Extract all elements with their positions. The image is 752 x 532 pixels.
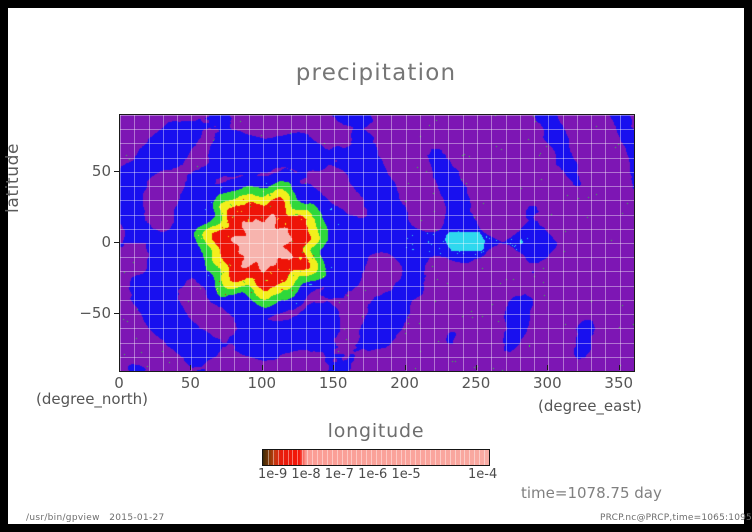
- x-tick-label: 150: [319, 374, 348, 392]
- colorbar-tick: [332, 450, 333, 465]
- x-tickmark: [476, 365, 477, 370]
- footer-source: PRCP.nc@PRCP,time=1065:1095: [600, 513, 752, 523]
- y-tickmark: [114, 171, 119, 172]
- colorbar-tick: [292, 450, 293, 465]
- colorbar-tick: [484, 450, 485, 465]
- colorbar-tick: [440, 450, 441, 465]
- y-tickmark: [114, 313, 119, 314]
- x-tick-label: 200: [390, 374, 419, 392]
- y-axis-label: latitude: [3, 143, 23, 213]
- x-tick-label: 100: [247, 374, 276, 392]
- x-tick-label: 350: [604, 374, 633, 392]
- contour-plot-area[interactable]: [119, 114, 635, 372]
- colorbar-tick: [479, 450, 480, 465]
- colorbar-tick: [396, 450, 397, 465]
- y-tick-label: −50: [57, 304, 111, 322]
- colorbar-tick: [450, 450, 451, 465]
- x-tickmark: [190, 365, 191, 370]
- x-tick-label: 250: [462, 374, 491, 392]
- colorbar-tick: [317, 450, 318, 465]
- x-tickmark: [333, 365, 334, 370]
- colorbar-tick: [464, 450, 465, 465]
- colorbar-tick: [420, 450, 421, 465]
- x-axis-label: longitude: [8, 420, 744, 442]
- colorbar-tick: [278, 450, 279, 465]
- colorbar-tick: [366, 450, 367, 465]
- colorbar-tick: [386, 450, 387, 465]
- colorbar-min-labels: 1e-9 1e-8 1e-7 1e-6 1e-5: [258, 467, 421, 482]
- colorbar-tick: [445, 450, 446, 465]
- colorbar-tick: [273, 450, 274, 465]
- colorbar-tick: [351, 450, 352, 465]
- y-tickmark: [114, 242, 119, 243]
- colorbar-tick: [297, 450, 298, 465]
- colorbar-tick: [283, 450, 284, 465]
- colorbar-tick: [455, 450, 456, 465]
- colorbar-tick: [425, 450, 426, 465]
- x-tickmark: [119, 365, 120, 370]
- colorbar-tick: [356, 450, 357, 465]
- colorbar-tick: [381, 450, 382, 465]
- time-annotation: time=1078.75 day: [521, 484, 662, 502]
- colorbar-tick: [342, 450, 343, 465]
- colorbar-max-label: 1e-4: [468, 467, 497, 482]
- footer-command: /usr/bin/gpview 2015-01-27: [26, 513, 165, 523]
- colorbar-tick: [268, 450, 269, 465]
- colorbar-tick: [307, 450, 308, 465]
- colorbar-tick: [430, 450, 431, 465]
- x-tick-label: 300: [533, 374, 562, 392]
- gridline-vertical: [634, 115, 635, 371]
- y-tick-label: 50: [57, 162, 111, 180]
- colorbar-tick: [347, 450, 348, 465]
- y-tick-label: 0: [57, 233, 111, 251]
- x-tick-label: 50: [181, 374, 200, 392]
- colorbar-tick: [410, 450, 411, 465]
- x-axis-unit-left: (degree_north): [36, 390, 148, 408]
- colorbar-tick: [337, 450, 338, 465]
- colorbar-tick: [322, 450, 323, 465]
- x-tickmark: [619, 365, 620, 370]
- figure-canvas: precipitation 050100150200250300350500−5…: [8, 8, 744, 524]
- precipitation-field: [120, 115, 634, 371]
- colorbar-tick: [469, 450, 470, 465]
- colorbar-tick: [312, 450, 313, 465]
- x-tickmark: [262, 365, 263, 370]
- colorbar-tick: [361, 450, 362, 465]
- gridline-horizontal: [120, 371, 634, 372]
- colorbar-tick: [371, 450, 372, 465]
- page-title: precipitation: [8, 60, 744, 86]
- colorbar-tick: [302, 450, 303, 465]
- colorbar-tick: [435, 450, 436, 465]
- colorbar-tick: [460, 450, 461, 465]
- colorbar-tick: [327, 450, 328, 465]
- colorbar-tick: [401, 450, 402, 465]
- colorbar-tick: [391, 450, 392, 465]
- x-tickmark: [405, 365, 406, 370]
- colorbar[interactable]: [262, 449, 490, 466]
- colorbar-tick: [405, 450, 406, 465]
- colorbar-tick: [288, 450, 289, 465]
- x-tickmark: [547, 365, 548, 370]
- colorbar-tick: [474, 450, 475, 465]
- x-axis-unit-right: (degree_east): [538, 397, 642, 415]
- colorbar-tick: [415, 450, 416, 465]
- colorbar-tick: [376, 450, 377, 465]
